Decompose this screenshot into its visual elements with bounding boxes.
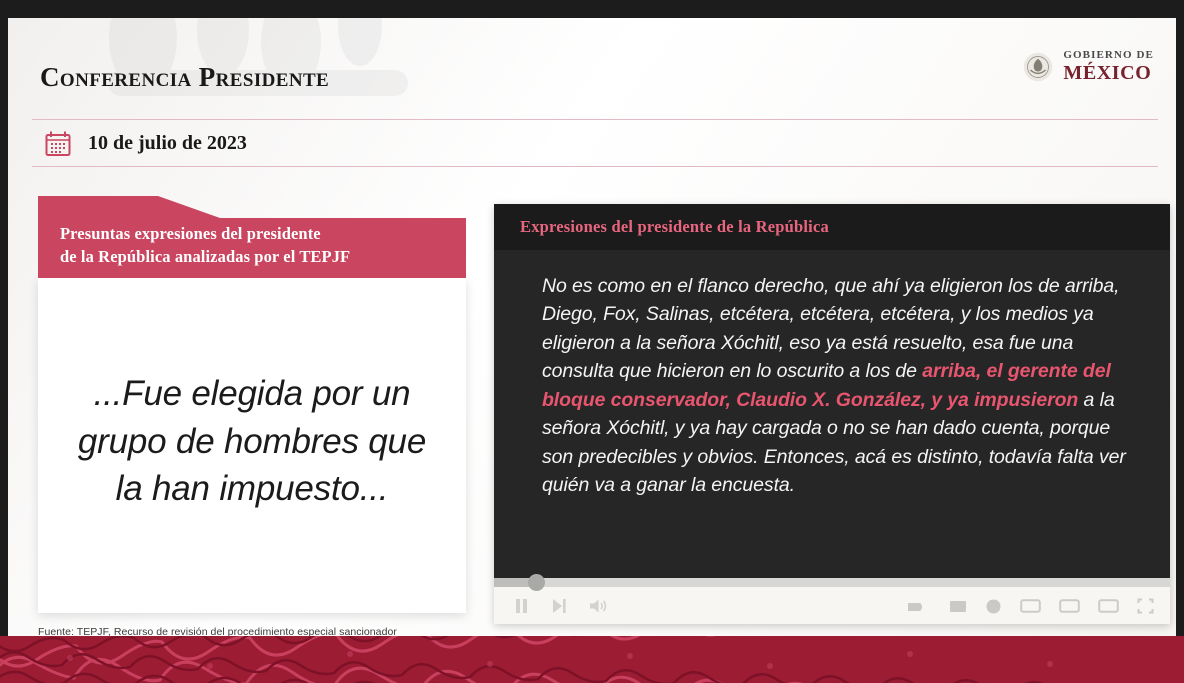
date-row: 10 de julio de 2023 (44, 130, 247, 157)
record-circle-icon[interactable] (985, 598, 1002, 614)
progress-handle[interactable] (528, 574, 545, 591)
cast-icon[interactable] (907, 598, 931, 614)
brand-line-1: GOBIERNO DE (1063, 50, 1154, 61)
mexican-coat-of-arms-icon (1023, 52, 1053, 82)
banner-line-1: Presuntas expresiones del presidente (60, 222, 444, 245)
decorative-bottom-band (0, 636, 1184, 683)
video-controls (494, 587, 1170, 624)
page-header: Conferencia Presidente GOBIERNO DE MÉXIC… (8, 18, 1176, 101)
quote-card: ...Fue elegida por un grupo de hombres q… (38, 278, 466, 613)
transcript-text: No es como en el flanco derecho, que ahí… (542, 272, 1134, 500)
prehispanic-pattern (0, 636, 1184, 683)
page-title: Conferencia Presidente (40, 62, 329, 93)
header-divider-top (32, 119, 1158, 120)
video-header: Expresiones del presidente de la Repúbli… (494, 204, 1170, 250)
video-player[interactable]: Expresiones del presidente de la Repúbli… (494, 204, 1170, 624)
stop-square-icon[interactable] (949, 598, 967, 614)
pause-icon[interactable] (514, 598, 529, 614)
banner-tepjf: Presuntas expresiones del presidente de … (38, 196, 466, 278)
video-content: No es como en el flanco derecho, que ahí… (494, 250, 1170, 578)
source-line-1: Fuente: TEPJF, Recurso de revisión del p… (38, 625, 579, 636)
video-title: Expresiones del presidente de la Repúbli… (520, 217, 829, 237)
calendar-icon (44, 130, 72, 157)
source-note: Fuente: TEPJF, Recurso de revisión del p… (38, 625, 579, 636)
slide: Conferencia Presidente GOBIERNO DE MÉXIC… (8, 18, 1176, 636)
left-column: Presuntas expresiones del presidente de … (38, 196, 466, 613)
quote-text: ...Fue elegida por un grupo de hombres q… (64, 370, 440, 514)
window-outline-icon[interactable] (1020, 598, 1041, 614)
video-progress-bar[interactable] (494, 578, 1170, 587)
fullscreen-icon[interactable] (1137, 598, 1154, 614)
volume-icon[interactable] (589, 598, 608, 614)
banner-line-2: de la República analizadas por el TEPJF (60, 245, 444, 268)
window-outline-icon[interactable] (1098, 598, 1119, 614)
brand-line-2: MÉXICO (1063, 63, 1154, 83)
next-track-icon[interactable] (551, 598, 567, 614)
header-divider-bottom (32, 166, 1158, 167)
date-label: 10 de julio de 2023 (88, 132, 247, 155)
window-outline-icon[interactable] (1059, 598, 1080, 614)
gobierno-de-mexico-logo: GOBIERNO DE MÉXICO (1023, 50, 1154, 83)
